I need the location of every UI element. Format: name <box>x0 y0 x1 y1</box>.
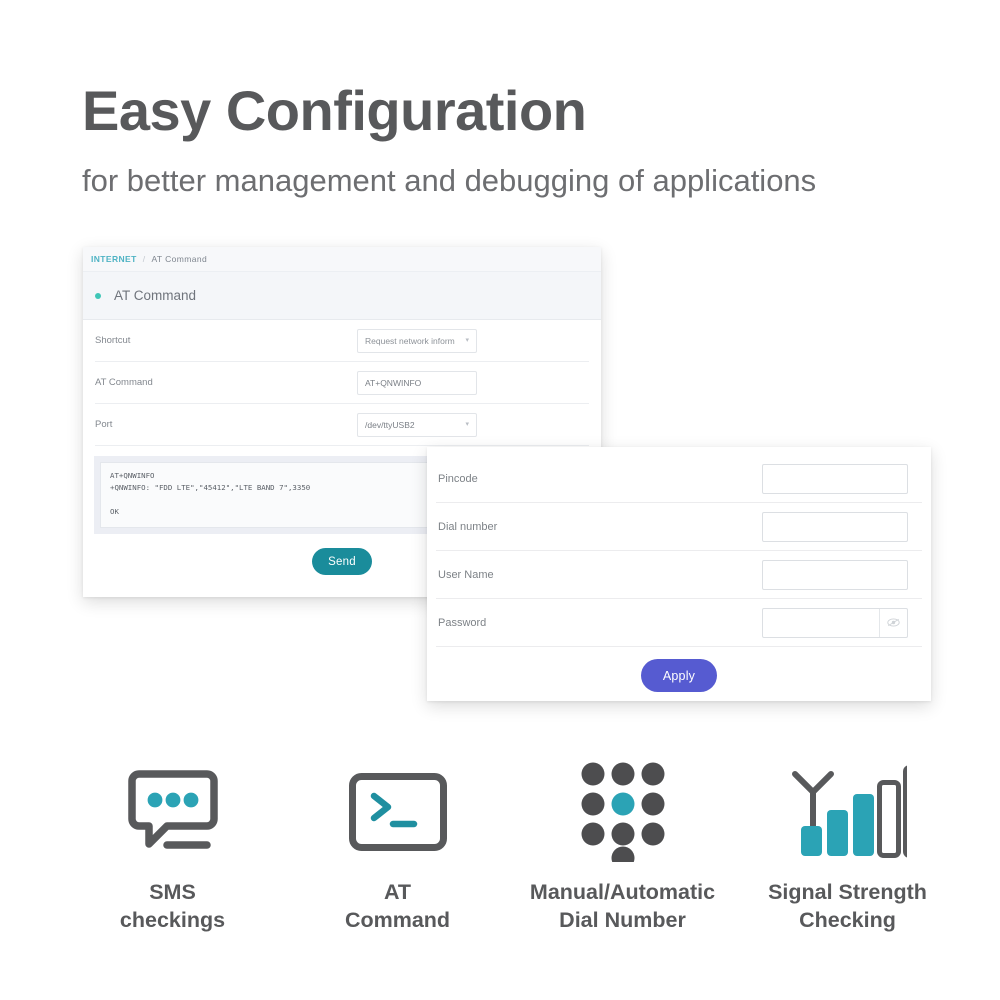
user-name-value <box>763 561 907 589</box>
pincode-label: Pincode <box>436 473 762 485</box>
feature-sms-checking: SMS checkings <box>60 760 285 935</box>
form-row-pincode: Pincode <box>436 455 922 503</box>
user-name-input[interactable] <box>762 560 908 590</box>
form-row-at-command: AT Command AT+QNWINFO <box>95 362 589 404</box>
at-command-input[interactable]: AT+QNWINFO <box>357 371 477 395</box>
dial-number-input[interactable] <box>762 512 908 542</box>
form-row-user-name: User Name <box>436 551 922 599</box>
feature-at-command: AT Command <box>285 760 510 935</box>
form-row-port: Port /dev/ttyUSB2 ▾ <box>95 404 589 446</box>
dial-number-label: Dial number <box>436 521 762 533</box>
signal-strength-icon <box>789 760 907 864</box>
user-name-label: User Name <box>436 569 762 581</box>
shortcut-label: Shortcut <box>95 335 357 346</box>
password-value <box>763 609 879 637</box>
form-row-shortcut: Shortcut Request network inform ▾ <box>95 320 589 362</box>
shortcut-value: Request network inform <box>365 336 455 346</box>
feature-caption: Manual/Automatic Dial Number <box>530 878 715 935</box>
at-panel-header: AT Command <box>83 272 601 320</box>
page-subtitle: for better management and debugging of a… <box>82 162 816 201</box>
form-row-password: Password <box>436 599 922 647</box>
dial-number-value <box>763 513 907 541</box>
password-input[interactable] <box>762 608 908 638</box>
pincode-value <box>763 465 907 493</box>
eye-icon[interactable] <box>879 609 907 637</box>
feature-signal-strength: Signal Strength Checking <box>735 760 960 935</box>
breadcrumb-current: AT Command <box>151 254 207 264</box>
breadcrumb-internet[interactable]: INTERNET <box>91 254 137 264</box>
apply-button[interactable]: Apply <box>641 659 717 692</box>
dial-pad-icon <box>580 760 666 864</box>
form-row-dial-number: Dial number <box>436 503 922 551</box>
password-label: Password <box>436 617 762 629</box>
terminal-prompt-icon <box>348 760 448 864</box>
port-value: /dev/ttyUSB2 <box>365 420 415 430</box>
dial-settings-panel: Pincode Dial number User Name Password <box>427 447 931 701</box>
status-dot-icon <box>95 293 101 299</box>
feature-caption: Signal Strength Checking <box>768 878 927 935</box>
pincode-input[interactable] <box>762 464 908 494</box>
shortcut-select[interactable]: Request network inform ▾ <box>357 329 477 353</box>
feature-list: SMS checkings AT Command <box>60 760 960 935</box>
page-title: Easy Configuration <box>82 80 586 143</box>
at-command-value: AT+QNWINFO <box>365 378 421 388</box>
breadcrumb-separator: / <box>143 254 146 264</box>
port-label: Port <box>95 419 357 430</box>
promo-page: Easy Configuration for better management… <box>0 0 1000 1000</box>
sms-chat-bubble-icon <box>127 760 219 864</box>
breadcrumb: INTERNET / AT Command <box>83 247 601 272</box>
at-panel-title: AT Command <box>114 288 196 303</box>
port-select[interactable]: /dev/ttyUSB2 ▾ <box>357 413 477 437</box>
send-button[interactable]: Send <box>312 548 372 575</box>
feature-caption: SMS checkings <box>120 878 225 935</box>
chevron-down-icon: ▾ <box>465 337 469 344</box>
chevron-down-icon: ▾ <box>465 421 469 428</box>
feature-dial-number: Manual/Automatic Dial Number <box>510 760 735 935</box>
feature-caption: AT Command <box>345 878 450 935</box>
at-command-label: AT Command <box>95 377 357 388</box>
apply-button-row: Apply <box>427 659 931 692</box>
